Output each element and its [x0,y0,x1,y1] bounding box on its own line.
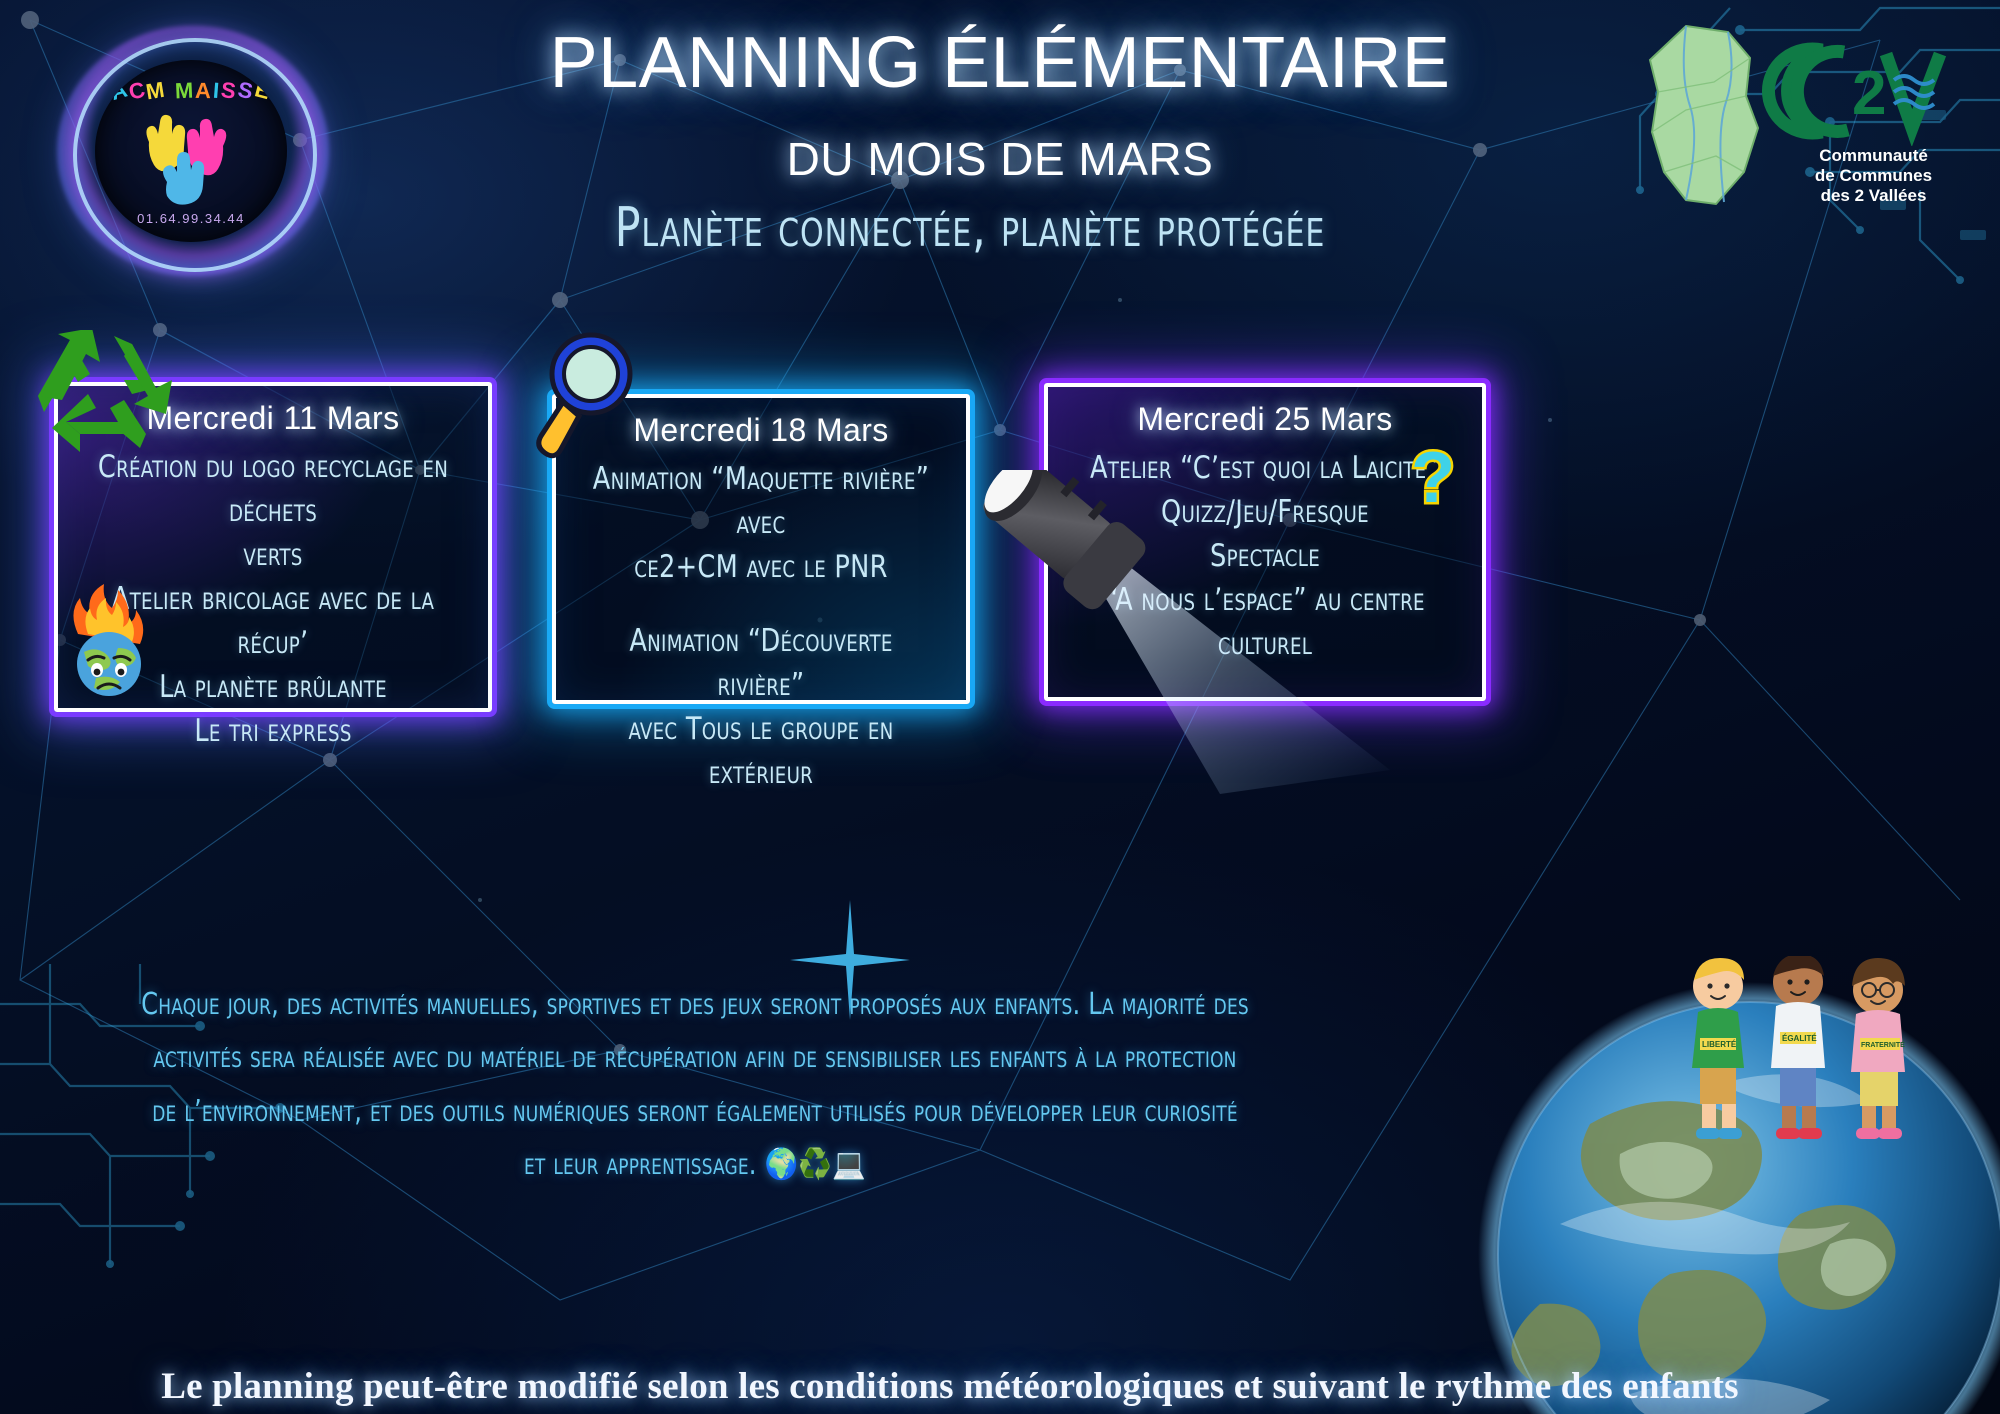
kid-badge-3: FRATERNITÉ [1861,1040,1905,1049]
logo-disc: ACM MAISSE 01.64.99.34.44 [95,60,287,242]
acm-letter: M [174,78,195,105]
c2v-line-3: des 2 Vallées [1786,186,1961,206]
card-date: Mercredi 25 Mars [1070,401,1460,438]
svg-text:2: 2 [1852,59,1886,128]
poster: PLANNING ÉLÉMENTAIRE DU MOIS DE MARS Pla… [0,0,2000,1414]
paragraph-emoji: 🌍♻️💻 [765,1147,866,1182]
description-paragraph: Chaque jour, des activités manuelles, sp… [133,978,1258,1192]
c2v-monogram-icon: 2 [1744,36,1954,146]
acm-maisse-logo: ACM MAISSE 01.64.99.34.44 [45,18,345,283]
paragraph-line-2: activités sera réalisée avec du matériel… [133,1031,1258,1084]
card-activity: verts [95,533,450,577]
magnifier-icon [523,330,643,465]
card-activity: Animation “Découverte rivière” [593,619,930,707]
c2v-name-block: Communauté de Communes des 2 Vallées [1786,146,1961,206]
card-spacer [578,589,944,619]
c2v-line-2: de Communes [1786,166,1961,186]
kid-badge-1: LIBERTÉ [1702,1040,1737,1049]
card-activity: avec Tous le groupe en extérieur [593,707,930,795]
hands-icon [131,112,251,208]
acm-phone-number: 01.64.99.34.44 [95,211,287,226]
kid-badge-2: ÉGALITÉ [1782,1034,1817,1043]
acm-wordmark: ACM MAISSE [95,78,287,104]
children-icon: LIBERTÉ ÉGALITÉ FRATERNITÉ [1670,956,1940,1146]
page-subtitle: DU MOIS DE MARS [500,132,1500,186]
burning-earth-icon [48,578,170,698]
footer-note: Le planning peut-être modifié selon les … [0,1365,1900,1408]
c2v-logo: 2 Communauté de Communes des 2 Vallées [1624,14,1954,229]
card-activity: Le tri express [95,709,450,753]
card-activity: Animation “Maquette rivière” avec [593,457,930,545]
paragraph-line-4: et leur apprentissage. 🌍♻️💻 [133,1138,1258,1191]
c2v-line-1: Communauté [1786,146,1961,166]
card-activity: ce2+CM avec le PNR [593,545,930,589]
paragraph-line-4-text: et leur apprentissage. [524,1147,765,1182]
flashlight-icon [980,470,1440,800]
acm-letter: A [195,78,213,104]
paragraph-line-3: de l’environnement, et des outils numéri… [133,1085,1258,1138]
recycle-icon [36,330,191,460]
page-title: PLANNING ÉLÉMENTAIRE [500,22,1500,104]
paragraph-line-1: Chaque jour, des activités manuelles, sp… [133,978,1258,1031]
page-tagline: Planète connectée, planète protégée [486,196,1454,259]
